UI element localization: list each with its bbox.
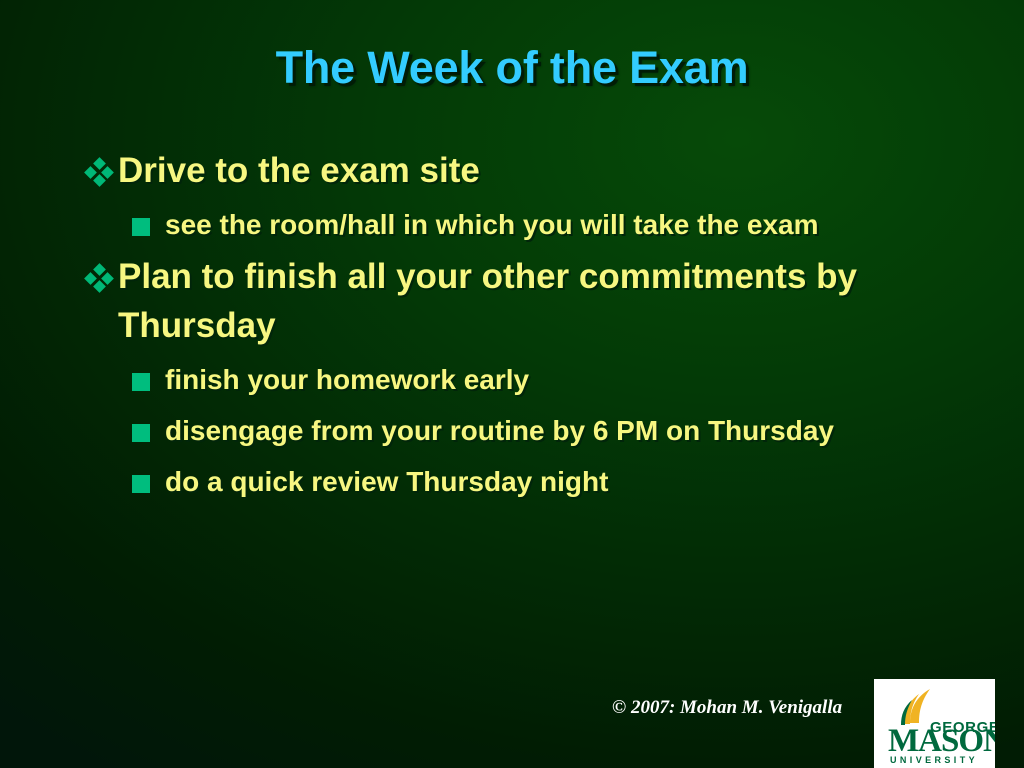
title-block: The Week of the Exam bbox=[0, 42, 1024, 94]
list-item: Plan to finish all your other commitment… bbox=[62, 252, 962, 350]
copyright-notice: © 2007: Mohan M. Venigalla bbox=[612, 697, 842, 719]
list-item-label: finish your homework early bbox=[165, 364, 529, 395]
list-item: see the room/hall in which you will take… bbox=[62, 201, 962, 248]
list-item-label: do a quick review Thursday night bbox=[165, 466, 608, 497]
bullet-list: Drive to the exam site see the room/hall… bbox=[62, 146, 962, 509]
diamond-cluster-bullet-icon bbox=[86, 265, 112, 291]
list-item: do a quick review Thursday night bbox=[62, 458, 962, 505]
square-bullet-icon bbox=[132, 424, 150, 442]
list-item-label: disengage from your routine by 6 PM on T… bbox=[165, 415, 834, 446]
list-item-label: Drive to the exam site bbox=[118, 146, 962, 195]
square-bullet-icon bbox=[132, 475, 150, 493]
page-title: The Week of the Exam bbox=[276, 42, 749, 94]
square-bullet-icon bbox=[132, 373, 150, 391]
list-item: finish your homework early bbox=[62, 356, 962, 403]
list-item: Drive to the exam site bbox=[62, 146, 962, 195]
george-mason-university-logo: MASON GEORGE UNIVERSITY bbox=[874, 679, 995, 768]
list-item-label: Plan to finish all your other commitment… bbox=[118, 252, 962, 350]
list-item-label: see the room/hall in which you will take… bbox=[165, 209, 819, 240]
svg-text:UNIVERSITY: UNIVERSITY bbox=[890, 755, 978, 765]
presentation-slide: The Week of the Exam Drive to the exam s… bbox=[0, 0, 1024, 768]
svg-text:GEORGE: GEORGE bbox=[930, 719, 995, 736]
square-bullet-icon bbox=[132, 218, 150, 236]
list-item: disengage from your routine by 6 PM on T… bbox=[62, 407, 962, 454]
diamond-cluster-bullet-icon bbox=[86, 159, 112, 185]
gmu-logo-icon: MASON GEORGE UNIVERSITY bbox=[874, 679, 995, 768]
